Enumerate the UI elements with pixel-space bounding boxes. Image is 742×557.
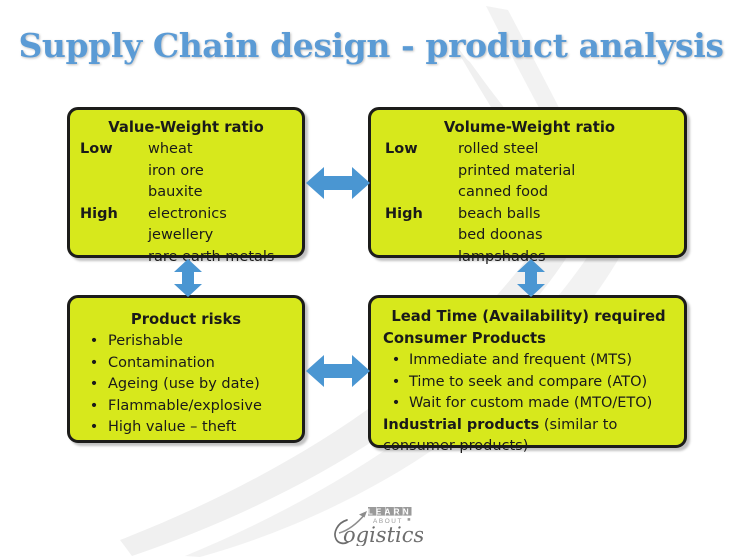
box-product-risks: Product risks • Perishable • Contaminati… xyxy=(67,295,305,443)
box-product-risks-title: Product risks xyxy=(80,309,292,331)
ratio-item: bed doonas xyxy=(458,225,674,247)
lead-time-footer-line2: consumer products) xyxy=(383,436,674,458)
list-item: • Immediate and frequent (MTS) xyxy=(383,350,674,372)
ratio-row: bauxite xyxy=(80,182,292,204)
list-item-label: Ageing (use by date) xyxy=(108,374,292,396)
bullet-icon: • xyxy=(80,396,108,418)
bullet-icon: • xyxy=(80,374,108,396)
box-volume-weight-ratio: Volume-Weight ratio Low rolled steel pri… xyxy=(368,107,687,258)
learn-about-logistics-logo: LEARN ABOUT ogistics xyxy=(331,500,423,546)
lead-time-footer-line1: Industrial products (similar to xyxy=(383,415,674,437)
arrow-product-risks-to-lead-time xyxy=(306,352,370,390)
ratio-item: wheat xyxy=(148,139,292,161)
bullet-icon: • xyxy=(383,350,409,372)
ratio-item: iron ore xyxy=(148,161,292,183)
arrow-value-weight-to-volume-weight xyxy=(306,164,370,202)
box-lead-time: Lead Time (Availability) required Consum… xyxy=(368,295,687,448)
ratio-label xyxy=(80,161,148,183)
bullet-icon: • xyxy=(80,353,108,375)
ratio-label xyxy=(80,182,148,204)
ratio-item: rolled steel xyxy=(458,139,674,161)
ratio-label xyxy=(80,247,148,269)
ratio-label xyxy=(80,225,148,247)
ratio-label xyxy=(385,247,458,269)
bullet-icon: • xyxy=(383,372,409,394)
list-item: • Wait for custom made (MTO/ETO) xyxy=(383,393,674,415)
list-item-label: Perishable xyxy=(108,331,292,353)
ratio-row: High beach balls xyxy=(385,204,674,226)
list-item: • Perishable xyxy=(80,331,292,353)
list-item: • Time to seek and compare (ATO) xyxy=(383,372,674,394)
ratio-row: High electronics xyxy=(80,204,292,226)
ratio-label: Low xyxy=(385,139,458,161)
ratio-item: beach balls xyxy=(458,204,674,226)
arrow-value-weight-to-product-risks xyxy=(173,259,203,297)
bullet-icon: • xyxy=(383,393,409,415)
logo-logistics-text: ogistics xyxy=(335,520,423,546)
list-item: • Flammable/explosive xyxy=(80,396,292,418)
lead-time-footer-bold: Industrial products xyxy=(383,417,539,433)
arrow-volume-weight-to-lead-time xyxy=(516,259,546,297)
ratio-row: iron ore xyxy=(80,161,292,183)
lead-time-footer-rest: (similar to xyxy=(539,417,617,433)
ratio-label: Low xyxy=(80,139,148,161)
box-lead-time-subhead: Consumer Products xyxy=(383,328,674,350)
list-item: • High value – theft xyxy=(80,417,292,439)
ratio-row: jewellery xyxy=(80,225,292,247)
page-title: Supply Chain design - product analysis xyxy=(0,26,742,65)
list-item-label: High value – theft xyxy=(108,417,292,439)
box-volume-weight-title: Volume-Weight ratio xyxy=(385,117,674,139)
list-item-label: Time to seek and compare (ATO) xyxy=(409,372,674,394)
list-item-label: Wait for custom made (MTO/ETO) xyxy=(409,393,674,415)
list-item-label: Immediate and frequent (MTS) xyxy=(409,350,674,372)
list-item-label: Flammable/explosive xyxy=(108,396,292,418)
ratio-row: Low wheat xyxy=(80,139,292,161)
ratio-label xyxy=(385,161,458,183)
box-lead-time-title: Lead Time (Availability) required xyxy=(383,306,674,328)
ratio-item: rare earth metals xyxy=(148,247,292,269)
ratio-row: canned food xyxy=(385,182,674,204)
ratio-item: jewellery xyxy=(148,225,292,247)
list-item-label: Contamination xyxy=(108,353,292,375)
bullet-icon: • xyxy=(80,331,108,353)
ratio-item: electronics xyxy=(148,204,292,226)
ratio-row: printed material xyxy=(385,161,674,183)
ratio-row: Low rolled steel xyxy=(385,139,674,161)
box-value-weight-title: Value-Weight ratio xyxy=(80,117,292,139)
list-item: • Ageing (use by date) xyxy=(80,374,292,396)
ratio-label xyxy=(385,182,458,204)
ratio-label: High xyxy=(385,204,458,226)
ratio-label xyxy=(385,225,458,247)
ratio-label: High xyxy=(80,204,148,226)
bullet-icon: • xyxy=(80,417,108,439)
svg-text:LEARN: LEARN xyxy=(368,507,412,516)
box-value-weight-ratio: Value-Weight ratio Low wheat iron ore ba… xyxy=(67,107,305,258)
ratio-item: bauxite xyxy=(148,182,292,204)
list-item: • Contamination xyxy=(80,353,292,375)
ratio-item: lampshades xyxy=(458,247,674,269)
ratio-row: bed doonas xyxy=(385,225,674,247)
background-watermark xyxy=(0,0,742,557)
ratio-item: printed material xyxy=(458,161,674,183)
ratio-item: canned food xyxy=(458,182,674,204)
svg-text:ogistics: ogistics xyxy=(343,523,423,546)
logo-learn-text: LEARN xyxy=(368,507,412,516)
